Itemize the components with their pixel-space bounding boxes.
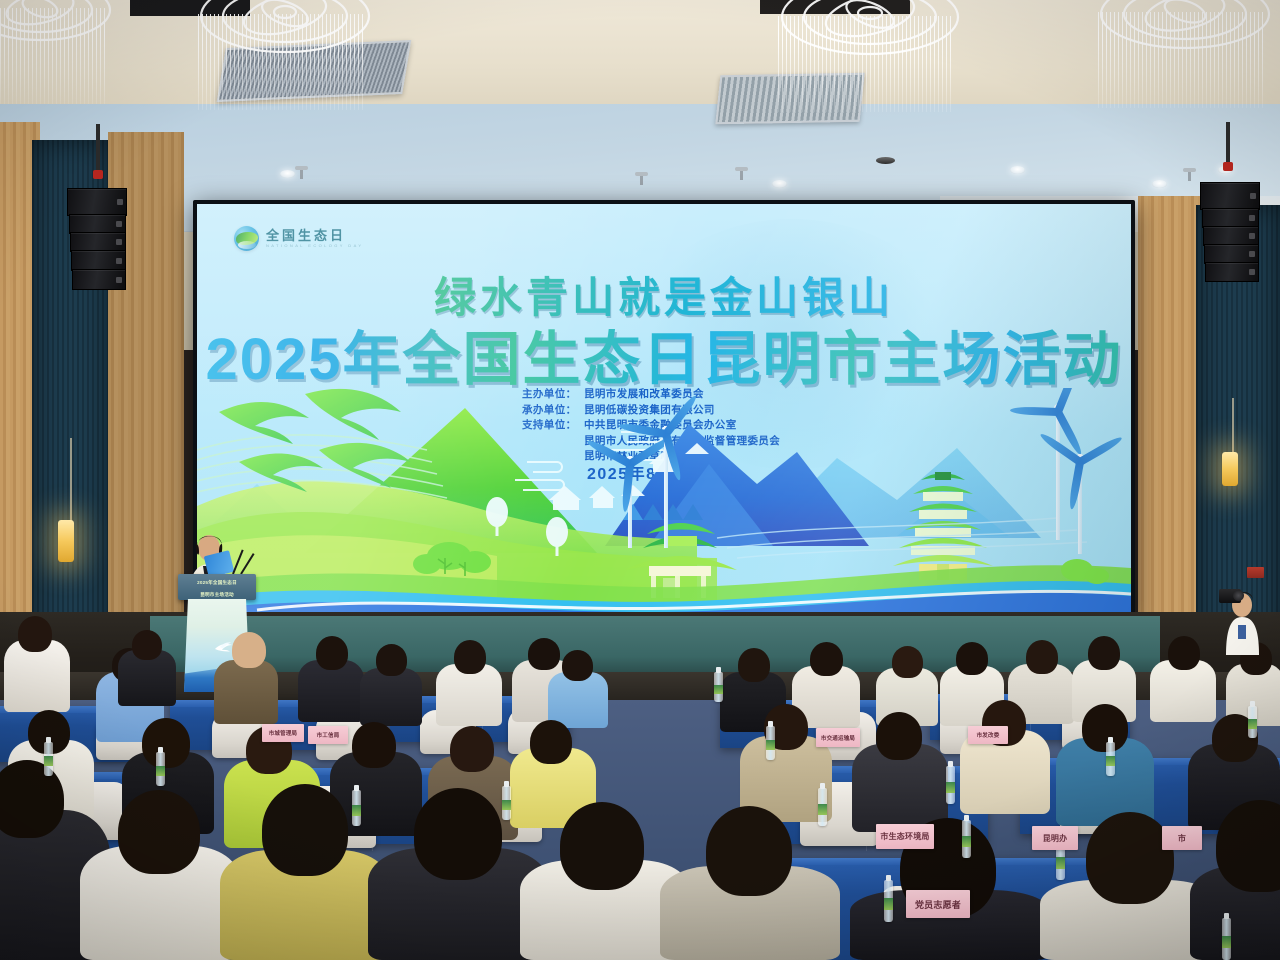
lectern-sign: 2025年全国生态日 昆明市主场活动 <box>178 574 256 600</box>
ceiling-stem <box>740 167 743 180</box>
smoke-detector <box>876 157 895 164</box>
water-bottle <box>946 766 955 804</box>
attendee-head <box>1026 640 1058 674</box>
dove-icon <box>214 641 234 653</box>
national-ecology-day-logo: 全国生态日 NATIONAL ECOLOGY DAY <box>234 226 363 251</box>
exit-sign <box>1247 567 1264 578</box>
table-placard: 市发改委 <box>968 726 1008 744</box>
wind-turbine <box>1077 454 1083 554</box>
wind-turbine <box>627 456 633 548</box>
attendee-head <box>560 802 644 890</box>
ceiling-stem <box>1188 168 1191 181</box>
ceiling-slab <box>0 0 1280 112</box>
pendant-lamp <box>58 520 74 562</box>
table-placard: 昆明办 <box>1032 826 1078 850</box>
screen-illustration <box>197 388 1131 618</box>
attendee-head <box>876 712 922 760</box>
table-placard: 市 <box>1162 826 1202 850</box>
wind-turbine <box>663 426 669 548</box>
attendee-head <box>528 638 560 670</box>
attendee-head <box>414 788 502 880</box>
water-bottle <box>44 742 53 776</box>
screen-subheadline: 2025年全国生态日昆明市主场活动 <box>197 312 1131 396</box>
speaker-rigging-shackle <box>1223 162 1233 171</box>
attendee-head <box>142 718 190 768</box>
hvac-vent <box>715 73 864 125</box>
attendee-head <box>118 790 200 874</box>
lectern-sign-line2: 昆明市主场活动 <box>178 586 256 598</box>
recessed-downlight <box>1010 166 1025 174</box>
ceiling-stem <box>300 166 303 179</box>
attendee-head <box>1082 704 1128 752</box>
lectern-sign-line1: 2025年全国生态日 <box>178 574 256 586</box>
line-array-speaker-right <box>1200 182 1258 280</box>
water-bottle <box>962 820 971 858</box>
water-bottle <box>1106 742 1115 776</box>
attendee-head <box>132 630 162 660</box>
table-placard: 市工信局 <box>308 726 348 744</box>
stage-floor <box>150 616 1160 674</box>
pendant-rod <box>70 438 72 522</box>
attendee-head <box>530 720 572 764</box>
attendee-head <box>892 646 923 678</box>
water-bottle <box>352 790 361 826</box>
logo-title: 全国生态日 <box>266 229 363 243</box>
attendee-head <box>376 644 407 676</box>
recessed-downlight <box>1152 180 1167 188</box>
attendee <box>360 668 422 726</box>
attendee-head <box>316 636 348 670</box>
water-bottle <box>1222 918 1231 960</box>
speaker-rigging-shackle <box>93 170 103 179</box>
table-placard: 市城管理局 <box>262 724 304 742</box>
ceiling-recess-left <box>130 0 250 16</box>
attendee-head <box>450 726 494 772</box>
attendee-head <box>262 784 348 876</box>
ceiling-recess-right <box>760 0 910 14</box>
hvac-vent <box>217 40 412 102</box>
recessed-downlight <box>280 170 295 178</box>
attendee-head <box>1088 636 1120 670</box>
attendee-head <box>562 650 593 681</box>
water-bottle <box>818 788 827 826</box>
line-array-speaker-left <box>67 188 125 288</box>
attendee-head <box>1086 812 1174 904</box>
logo-subtitle: NATIONAL ECOLOGY DAY <box>266 243 363 248</box>
attendee <box>214 660 278 724</box>
table-placard: 市交通运输局 <box>816 728 860 747</box>
video-camera <box>1219 589 1241 603</box>
led-screen-frame: 全国生态日 NATIONAL ECOLOGY DAY 绿水青山就是金山银山 20… <box>193 200 1135 624</box>
water-bottle <box>156 752 165 786</box>
water-bottle <box>884 880 893 922</box>
water-bottle <box>502 786 511 820</box>
attendee-head <box>738 648 770 682</box>
pendant-rod <box>1232 398 1234 454</box>
ecology-day-emblem-icon <box>234 226 259 251</box>
attendee-head <box>810 642 843 676</box>
speaker-rigging-rod <box>96 124 100 174</box>
recessed-downlight <box>772 180 787 188</box>
wind-turbine <box>1055 404 1061 540</box>
conference-hall-photo: 全国生态日 NATIONAL ECOLOGY DAY 绿水青山就是金山银山 20… <box>0 0 1280 960</box>
led-screen: 全国生态日 NATIONAL ECOLOGY DAY 绿水青山就是金山银山 20… <box>197 204 1131 618</box>
table-placard: 市生态环境局 <box>876 824 934 849</box>
attendee-head <box>454 640 486 674</box>
attendee-head <box>706 806 792 896</box>
water-bottle <box>714 672 723 702</box>
attendee-head <box>1168 636 1200 670</box>
ceiling-stem <box>640 172 643 185</box>
table-placard: 党员志愿者 <box>906 890 970 918</box>
water-bottle <box>766 726 775 760</box>
attendee-head <box>352 722 396 768</box>
water-bottle <box>1248 706 1257 738</box>
attendee-head <box>956 642 988 675</box>
attendee-head <box>18 616 52 652</box>
speaker-rigging-rod <box>1226 122 1230 166</box>
attendee-head <box>232 632 266 668</box>
pendant-lamp <box>1222 452 1238 486</box>
